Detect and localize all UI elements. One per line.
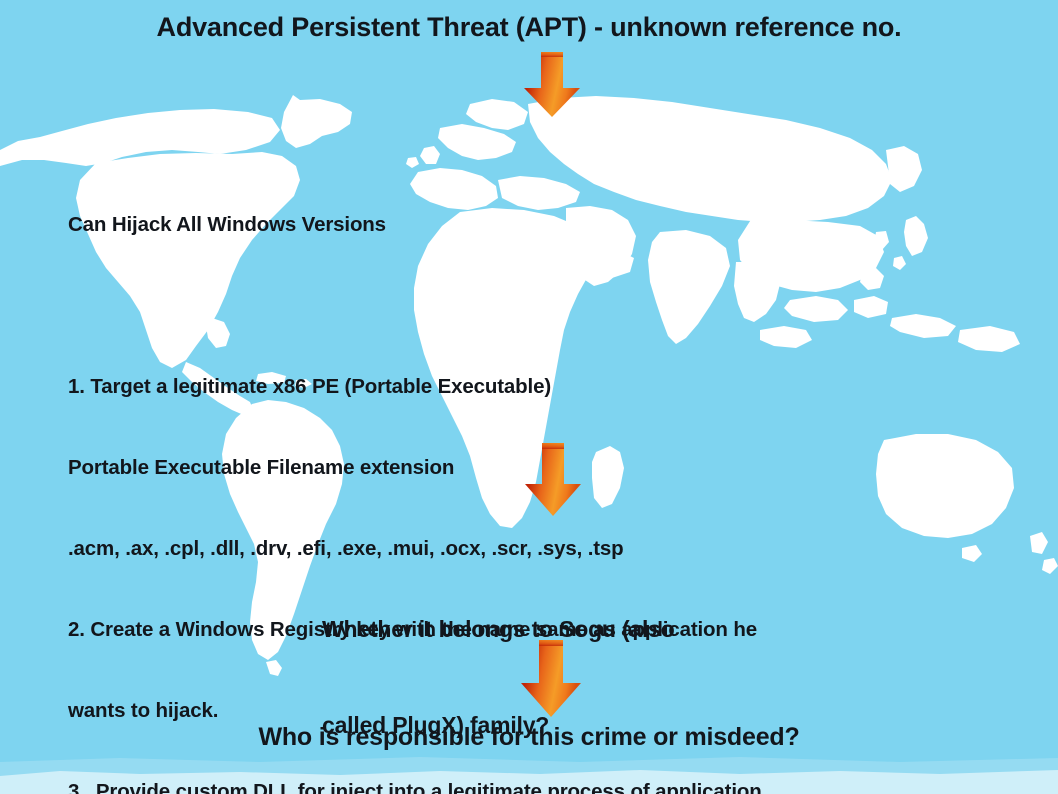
down-arrow-icon-3 — [514, 640, 588, 718]
body-spacer — [68, 292, 1028, 319]
question-sogu-block: Whether it belongs to Sogu (also called … — [322, 549, 882, 794]
body-line-1: 1. Target a legitimate x86 PE (Portable … — [68, 373, 1028, 400]
slide-canvas: Advanced Persistent Threat (APT) - unkno… — [0, 0, 1058, 794]
page-title: Advanced Persistent Threat (APT) - unkno… — [0, 12, 1058, 43]
question-sogu-line-1: Whether it belongs to Sogu (also — [322, 613, 882, 645]
down-arrow-icon-1 — [518, 52, 586, 118]
question-who-text: Who is responsible for this crime or mis… — [0, 723, 1058, 752]
body-heading: Can Hijack All Windows Versions — [68, 211, 1028, 238]
down-arrow-icon-2 — [519, 443, 587, 517]
